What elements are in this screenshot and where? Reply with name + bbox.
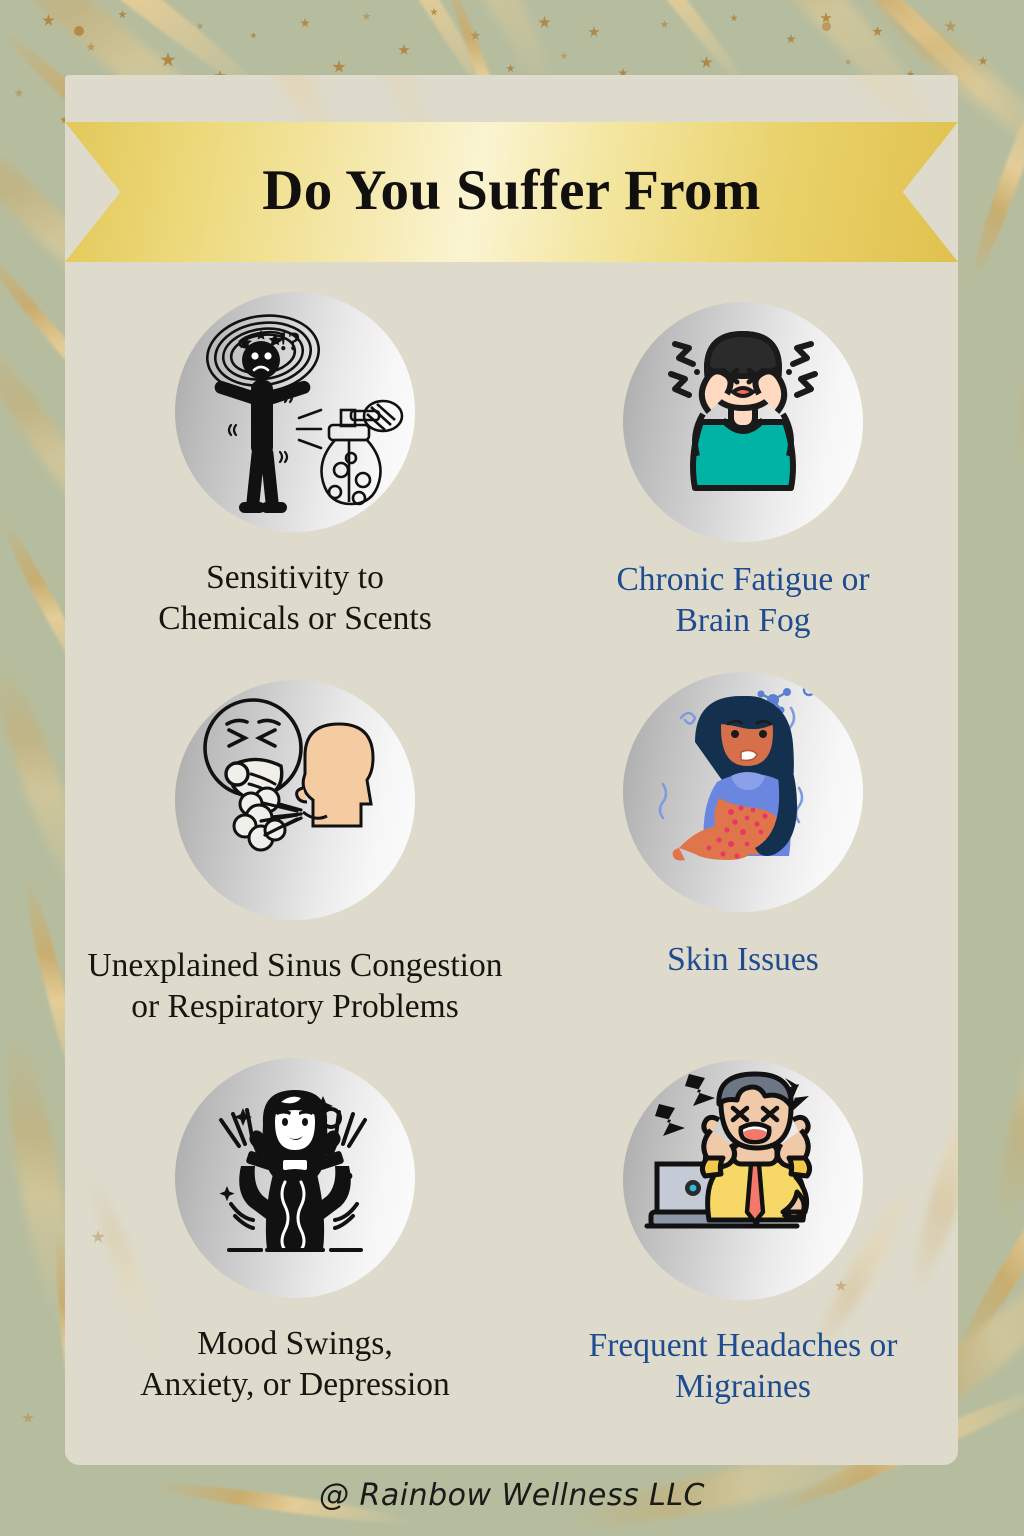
symptom-label: Chronic Fatigue or Brain Fog xyxy=(520,560,966,642)
symptom-card-sinus-congestion-respiratory: Unexplained Sinus Congestion or Respirat… xyxy=(72,680,518,1028)
stressed-man-laptop-headache-icon xyxy=(623,1060,863,1300)
woman-raised-hands-sparkles-icon xyxy=(175,1058,415,1298)
banner-ribbon: Do You Suffer From xyxy=(65,122,958,262)
symptom-card-frequent-headaches-migraines: Frequent Headaches or Migraines xyxy=(520,1060,966,1408)
symptom-label: Frequent Headaches or Migraines xyxy=(503,1326,983,1408)
symptom-card-mood-swings-anxiety-depression: Mood Swings, Anxiety, or Depression xyxy=(72,1058,518,1406)
symptom-label: Unexplained Sinus Congestion or Respirat… xyxy=(35,946,555,1028)
symptom-card-sensitivity-chemicals-scents: !? xyxy=(72,292,518,640)
symptom-label: Skin Issues xyxy=(520,940,966,981)
page-title: Do You Suffer From xyxy=(65,122,958,262)
tired-woman-holding-head-icon xyxy=(623,302,863,542)
symptom-card-skin-issues: Skin Issues xyxy=(520,672,966,981)
woman-arm-rash-icon xyxy=(623,672,863,912)
symptom-label: Mood Swings, Anxiety, or Depression xyxy=(72,1324,518,1406)
svg-text:!?: !? xyxy=(279,327,301,356)
sneezing-face-head-profile-icon xyxy=(175,680,415,920)
symptom-card-chronic-fatigue-brain-fog: Chronic Fatigue or Brain Fog xyxy=(520,302,966,642)
symptom-label: Sensitivity to Chemicals or Scents xyxy=(72,558,518,640)
poster-canvas: Do You Suffer From xyxy=(0,0,1024,1536)
footer-credit: @ Rainbow Wellness LLC xyxy=(0,1478,1024,1513)
dizzy-person-spray-bottle-icon: !? xyxy=(175,292,415,532)
